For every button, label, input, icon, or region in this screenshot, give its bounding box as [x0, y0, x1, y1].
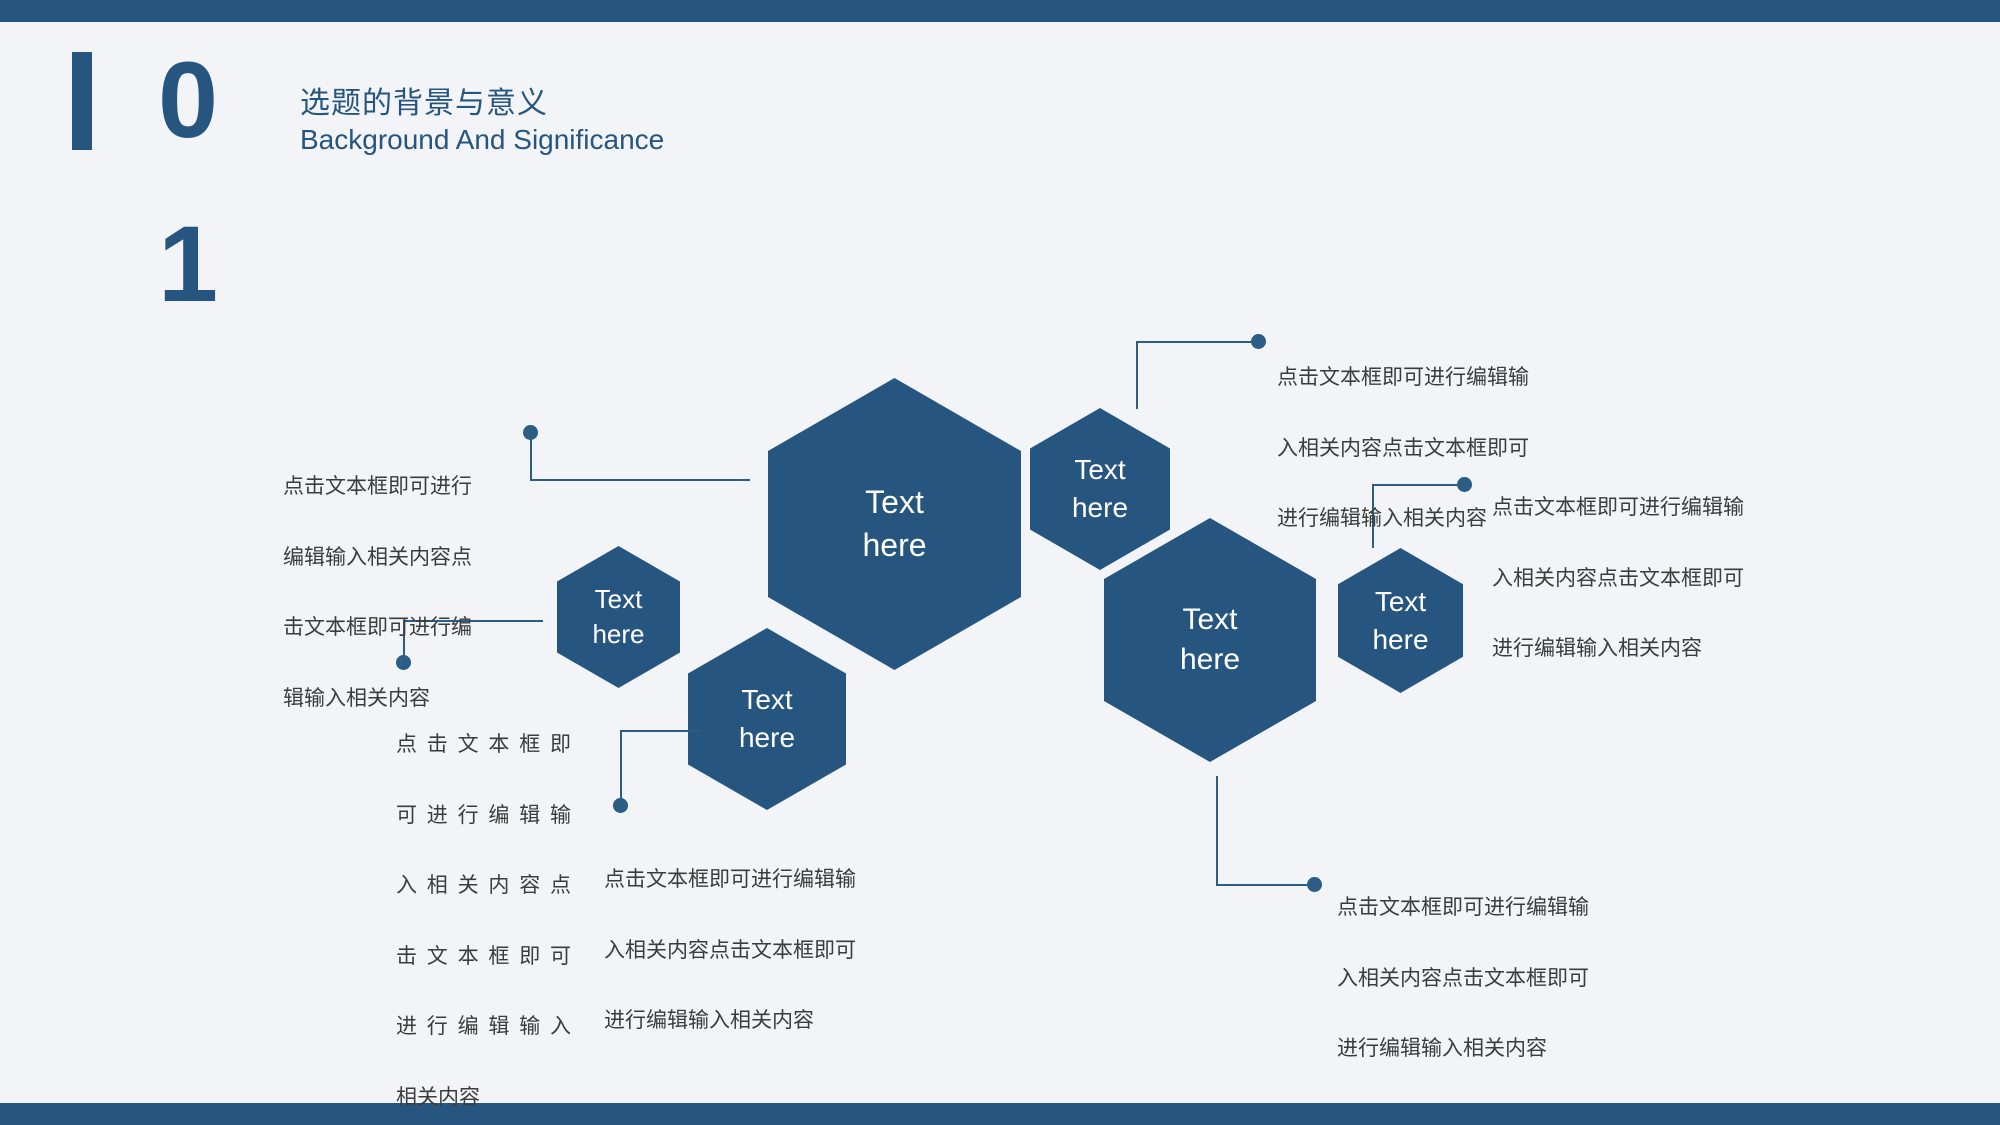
connector-line-bottom-center-vertical — [620, 730, 622, 802]
hexagon-label-line2: here — [1180, 640, 1240, 681]
hexagon-lower-left[interactable]: Text here — [688, 628, 846, 810]
hexagon-left-small[interactable]: Text here — [557, 546, 680, 688]
connector-line-left-upper-horizontal — [530, 479, 750, 481]
callout-line: 点击文本框即可进行编辑输 — [1337, 890, 1667, 925]
callout-line: 点击文本框即可进行编辑输 — [1492, 490, 1822, 525]
callout-line: 点击文本框即 — [396, 727, 571, 762]
callout-line: 进行编辑输入相关内容 — [1492, 631, 1822, 666]
callout-line: 入相关内容点 — [396, 868, 571, 903]
callout-line: 入相关内容点击文本框即可 — [1337, 961, 1667, 996]
callout-line: 编辑输入相关内容点 — [283, 540, 533, 575]
connector-line-bottom-right-vertical — [1216, 776, 1218, 886]
hexagon-label-line2: here — [862, 524, 926, 567]
callout-line: 点击文本框即可进行编辑输 — [1277, 360, 1607, 395]
hexagon-label-line2: here — [1072, 489, 1128, 527]
section-number-bottom: 1 — [158, 210, 218, 318]
callout-line: 点击文本框即可进行编辑输 — [604, 862, 934, 897]
hexagon-center-large[interactable]: Text here — [768, 378, 1021, 670]
hexagon-label-line1: Text — [862, 481, 926, 524]
callout-line: 进行编辑输入相关内容 — [1337, 1031, 1667, 1066]
callout-line: 点击文本框即可进行 — [283, 469, 533, 504]
connector-line-top-right-horizontal — [1136, 341, 1258, 343]
bottom-band — [0, 1103, 2000, 1125]
top-band — [0, 0, 2000, 22]
hexagon-label-line2: here — [1372, 621, 1428, 659]
callout-line: 进行编辑输入 — [396, 1009, 571, 1044]
hexagon-label-line1: Text — [1372, 583, 1428, 621]
callout-bottom-center[interactable]: 点击文本框即可进行编辑输 入相关内容点击文本框即可 进行编辑输入相关内容 — [604, 827, 934, 1074]
section-accent-bar — [72, 52, 92, 150]
connector-line-bottom-center-horizontal — [620, 730, 700, 732]
page-title: 选题的背景与意义 — [300, 78, 548, 122]
callout-right-middle[interactable]: 点击文本框即可进行编辑输 入相关内容点击文本框即可 进行编辑输入相关内容 — [1492, 455, 1822, 702]
hexagon-label-line2: here — [592, 617, 644, 652]
connector-line-bottom-right-horizontal — [1216, 884, 1314, 886]
connector-line-top-right-vertical — [1136, 341, 1138, 409]
page-subtitle: Background And Significance — [300, 124, 664, 156]
callout-bottom-right[interactable]: 点击文本框即可进行编辑输 入相关内容点击文本框即可 进行编辑输入相关内容 — [1337, 855, 1667, 1102]
callout-line: 入相关内容点击文本框即可 — [1492, 561, 1822, 596]
hexagon-label-line1: Text — [592, 582, 644, 617]
section-number-top: 0 — [158, 46, 218, 154]
callout-left-lower[interactable]: 点击文本框即 可进行编辑输 入相关内容点 击文本框即可 进行编辑输入 相关内容 — [396, 692, 571, 1125]
callout-line: 击文本框即可进行编 — [283, 610, 533, 645]
callout-line: 击文本框即可 — [396, 939, 571, 974]
hexagon-upper-right-small[interactable]: Text here — [1030, 408, 1170, 570]
hexagon-label-line1: Text — [1072, 451, 1128, 489]
callout-line: 可进行编辑输 — [396, 798, 571, 833]
hexagon-label-line2: here — [739, 719, 795, 757]
callout-line: 入相关内容点击文本框即可 — [604, 933, 934, 968]
callout-line: 进行编辑输入相关内容 — [604, 1003, 934, 1038]
hexagon-label-line1: Text — [739, 681, 795, 719]
callout-line: 相关内容 — [396, 1080, 571, 1115]
slide-canvas: 0 1 选题的背景与意义 Background And Significance… — [0, 0, 2000, 1125]
hexagon-label-line1: Text — [1180, 600, 1240, 641]
